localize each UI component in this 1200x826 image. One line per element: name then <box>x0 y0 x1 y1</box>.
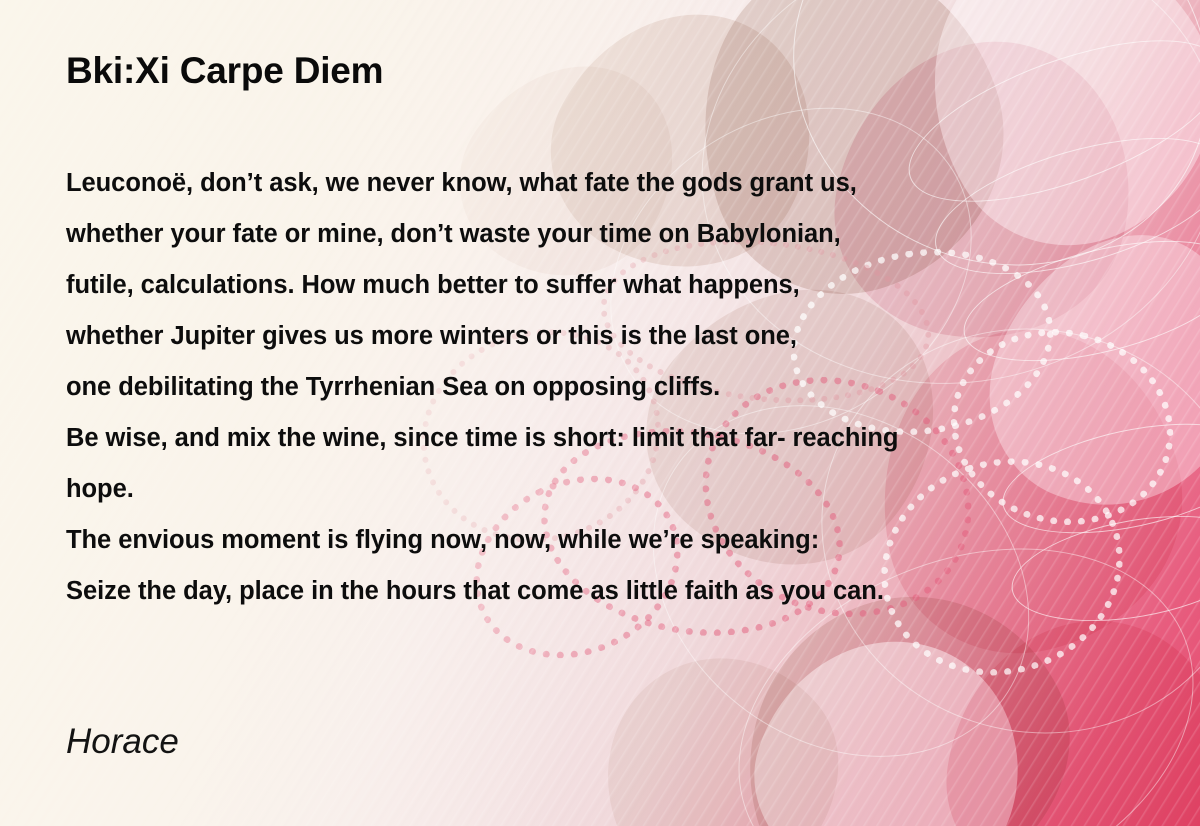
poem-line: whether Jupiter gives us more winters or… <box>66 311 1166 362</box>
poem-line: one debilitating the Tyrrhenian Sea on o… <box>66 362 1166 413</box>
poem-line: Seize the day, place in the hours that c… <box>66 566 1166 617</box>
poster-content: Bki:Xi Carpe Diem Leuconoë, don’t ask, w… <box>0 0 1200 826</box>
poem-line: The envious moment is flying now, now, w… <box>66 515 1166 566</box>
poem-line: Be wise, and mix the wine, since time is… <box>66 413 1166 464</box>
author-attribution: Horace <box>66 722 179 762</box>
poem-line: Leuconoë, don’t ask, we never know, what… <box>66 158 1166 209</box>
poem-body: Leuconoë, don’t ask, we never know, what… <box>66 158 1166 617</box>
poem-line: futile, calculations. How much better to… <box>66 260 1166 311</box>
carpe-diem-poster: Bki:Xi Carpe Diem Leuconoë, don’t ask, w… <box>0 0 1200 826</box>
poem-line: whether your fate or mine, don’t waste y… <box>66 209 1166 260</box>
page-title: Bki:Xi Carpe Diem <box>66 50 383 92</box>
poem-line: hope. <box>66 464 1166 515</box>
